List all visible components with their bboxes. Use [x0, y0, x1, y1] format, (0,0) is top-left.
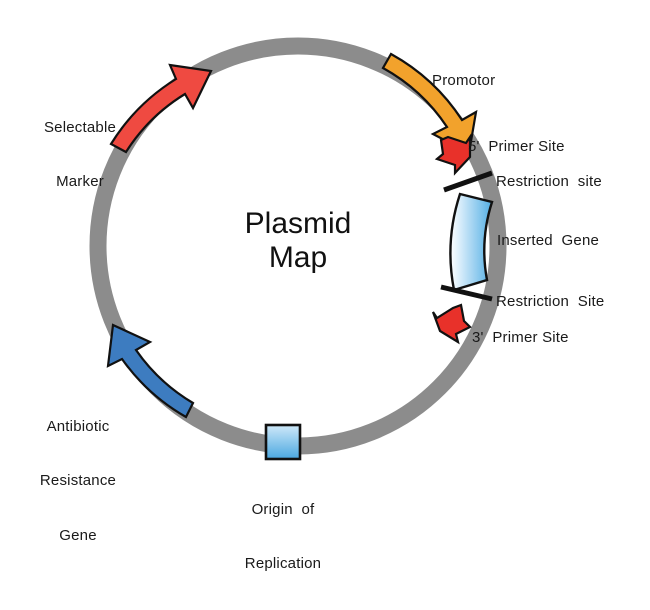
label-antibiotic-resistance-gene-line-1: Antibiotic — [18, 418, 138, 436]
promoter-arrow-icon — [383, 54, 476, 153]
three-prime-primer-arrow-icon — [433, 305, 470, 342]
page-title: Plasmid Map — [178, 207, 418, 275]
title-line-1: Plasmid — [178, 207, 418, 241]
label-inserted-gene: Inserted Gene — [497, 232, 599, 250]
feature-origin-of-replication — [266, 425, 300, 459]
origin-of-replication-block — [266, 425, 300, 459]
label-antibiotic-resistance-gene-line-3: Gene — [18, 527, 138, 545]
label-five-prime-primer-site: 5' Primer Site — [468, 138, 565, 156]
feature-inserted-gene — [450, 194, 492, 290]
label-origin-of-replication-line-1: Origin of — [208, 501, 358, 519]
label-three-prime-primer-site: 3' Primer Site — [472, 329, 569, 347]
inserted-gene-block — [450, 194, 492, 290]
five-prime-primer-arrow-icon — [437, 137, 470, 173]
feature-promoter — [383, 54, 476, 153]
label-antibiotic-resistance-gene-line-2: Resistance — [18, 472, 138, 490]
feature-three-prime-primer — [433, 305, 470, 342]
label-selectable-marker-line-1: Selectable — [20, 119, 140, 137]
title-line-2: Map — [178, 241, 418, 275]
label-selectable-marker: Selectable Marker — [20, 82, 140, 228]
label-restriction-site-upper: Restriction site — [496, 173, 602, 191]
plasmid-map-diagram: Plasmid Map Promotor 5' Primer Site Rest… — [0, 0, 650, 519]
label-promoter: Promotor — [432, 72, 495, 90]
label-selectable-marker-line-2: Marker — [20, 173, 140, 191]
feature-five-prime-primer — [437, 137, 470, 173]
label-restriction-site-lower: Restriction Site — [496, 293, 604, 311]
label-origin-of-replication-line-2: Replication — [208, 555, 358, 573]
label-antibiotic-resistance-gene: Antibiotic Resistance Gene — [18, 381, 138, 582]
label-origin-of-replication: Origin of Replication — [208, 464, 358, 610]
